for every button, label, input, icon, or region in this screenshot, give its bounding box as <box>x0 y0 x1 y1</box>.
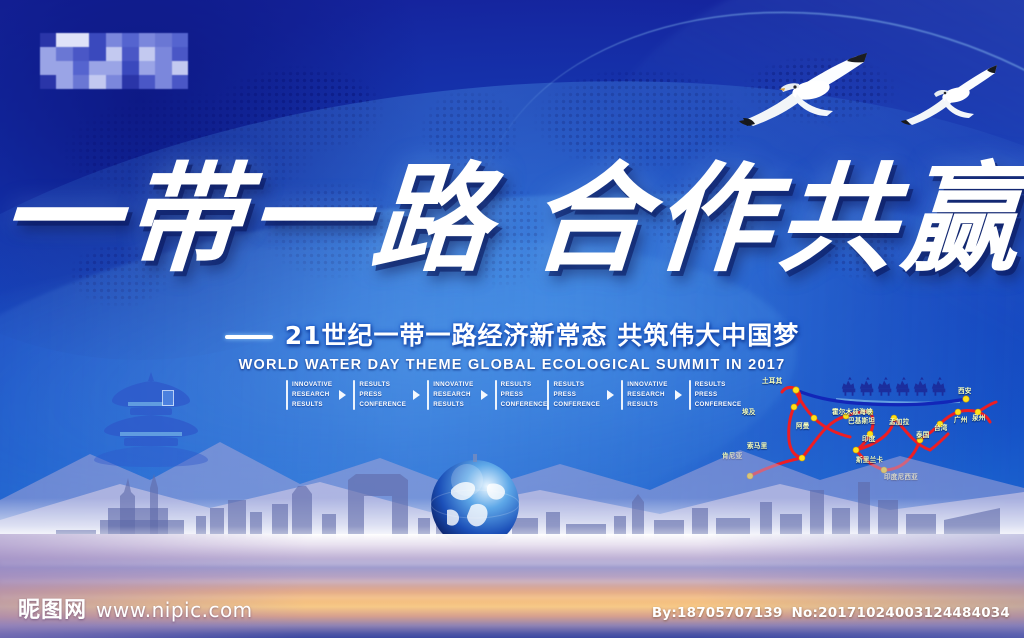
dash-decoration <box>225 335 273 339</box>
mosaic-tile <box>56 33 72 47</box>
mosaic-tile <box>139 75 155 89</box>
mosaic-tile <box>89 47 105 61</box>
credit-by: By:18705707139 <box>652 605 783 621</box>
mosaic-tile <box>73 33 89 47</box>
mosaic-tile <box>122 33 138 47</box>
mosaic-tile <box>155 33 171 47</box>
mosaic-tile <box>106 75 122 89</box>
mosaic-tile <box>40 47 56 61</box>
subtitle-chinese-row: 21世纪一带一路经济新常态 共筑伟大中国梦 <box>225 316 800 352</box>
mosaic-tile <box>155 61 171 75</box>
mosaic-tile <box>122 61 138 75</box>
mosaic-tile <box>155 47 171 61</box>
mosaic-tile <box>122 75 138 89</box>
subtitle-group: 21世纪一带一路经济新常态 共筑伟大中国梦 WORLD WATER DAY TH… <box>0 316 1024 373</box>
mosaic-tile <box>139 33 155 47</box>
mosaic-tile <box>89 61 105 75</box>
mosaic-tile <box>40 33 56 47</box>
site-watermark: 昵图网 www.nipic.com <box>18 592 253 624</box>
mosaic-tile <box>89 75 105 89</box>
mosaic-tile <box>172 61 188 75</box>
poster-canvas: 一带一路合作共赢 21世纪一带一路经济新常态 共筑伟大中国梦 WORLD WAT… <box>0 0 1024 638</box>
mosaic-tile <box>56 75 72 89</box>
mosaic-tile <box>122 47 138 61</box>
page-title: 一带一路合作共赢 <box>0 160 1024 278</box>
mosaic-tile <box>73 61 89 75</box>
brand-name-cn: 昵图网 <box>18 592 87 624</box>
mosaic-tile <box>89 33 105 47</box>
mosaic-tile <box>172 33 188 47</box>
mosaic-tile <box>155 75 171 89</box>
credit-no: No:20171024003124484034 <box>792 605 1010 621</box>
mosaic-tile <box>172 75 188 89</box>
title-part-1: 一带一路 <box>0 149 501 288</box>
mosaic-tile <box>139 61 155 75</box>
mosaic-tile <box>172 47 188 61</box>
mosaic-tile <box>106 33 122 47</box>
mosaic-tile <box>106 47 122 61</box>
mosaic-tile <box>56 61 72 75</box>
mosaic-tile <box>73 75 89 89</box>
brand-url: www.nipic.com <box>96 598 253 622</box>
seagull-icon <box>900 62 1004 134</box>
seagull-icon <box>737 46 887 136</box>
subtitle-chinese: 21世纪一带一路经济新常态 共筑伟大中国梦 <box>285 321 800 350</box>
mosaic-tile <box>106 61 122 75</box>
mosaic-tile <box>139 47 155 61</box>
credit-line: By:18705707139 No:20171024003124484034 <box>652 605 1010 621</box>
title-part-2: 合作共赢 <box>525 149 1024 288</box>
mosaic-tile <box>56 47 72 61</box>
mosaic-tile <box>73 47 89 61</box>
mosaic-tile <box>40 75 56 89</box>
mosaic-tile <box>40 61 56 75</box>
blurred-logo-mosaic <box>40 33 188 89</box>
